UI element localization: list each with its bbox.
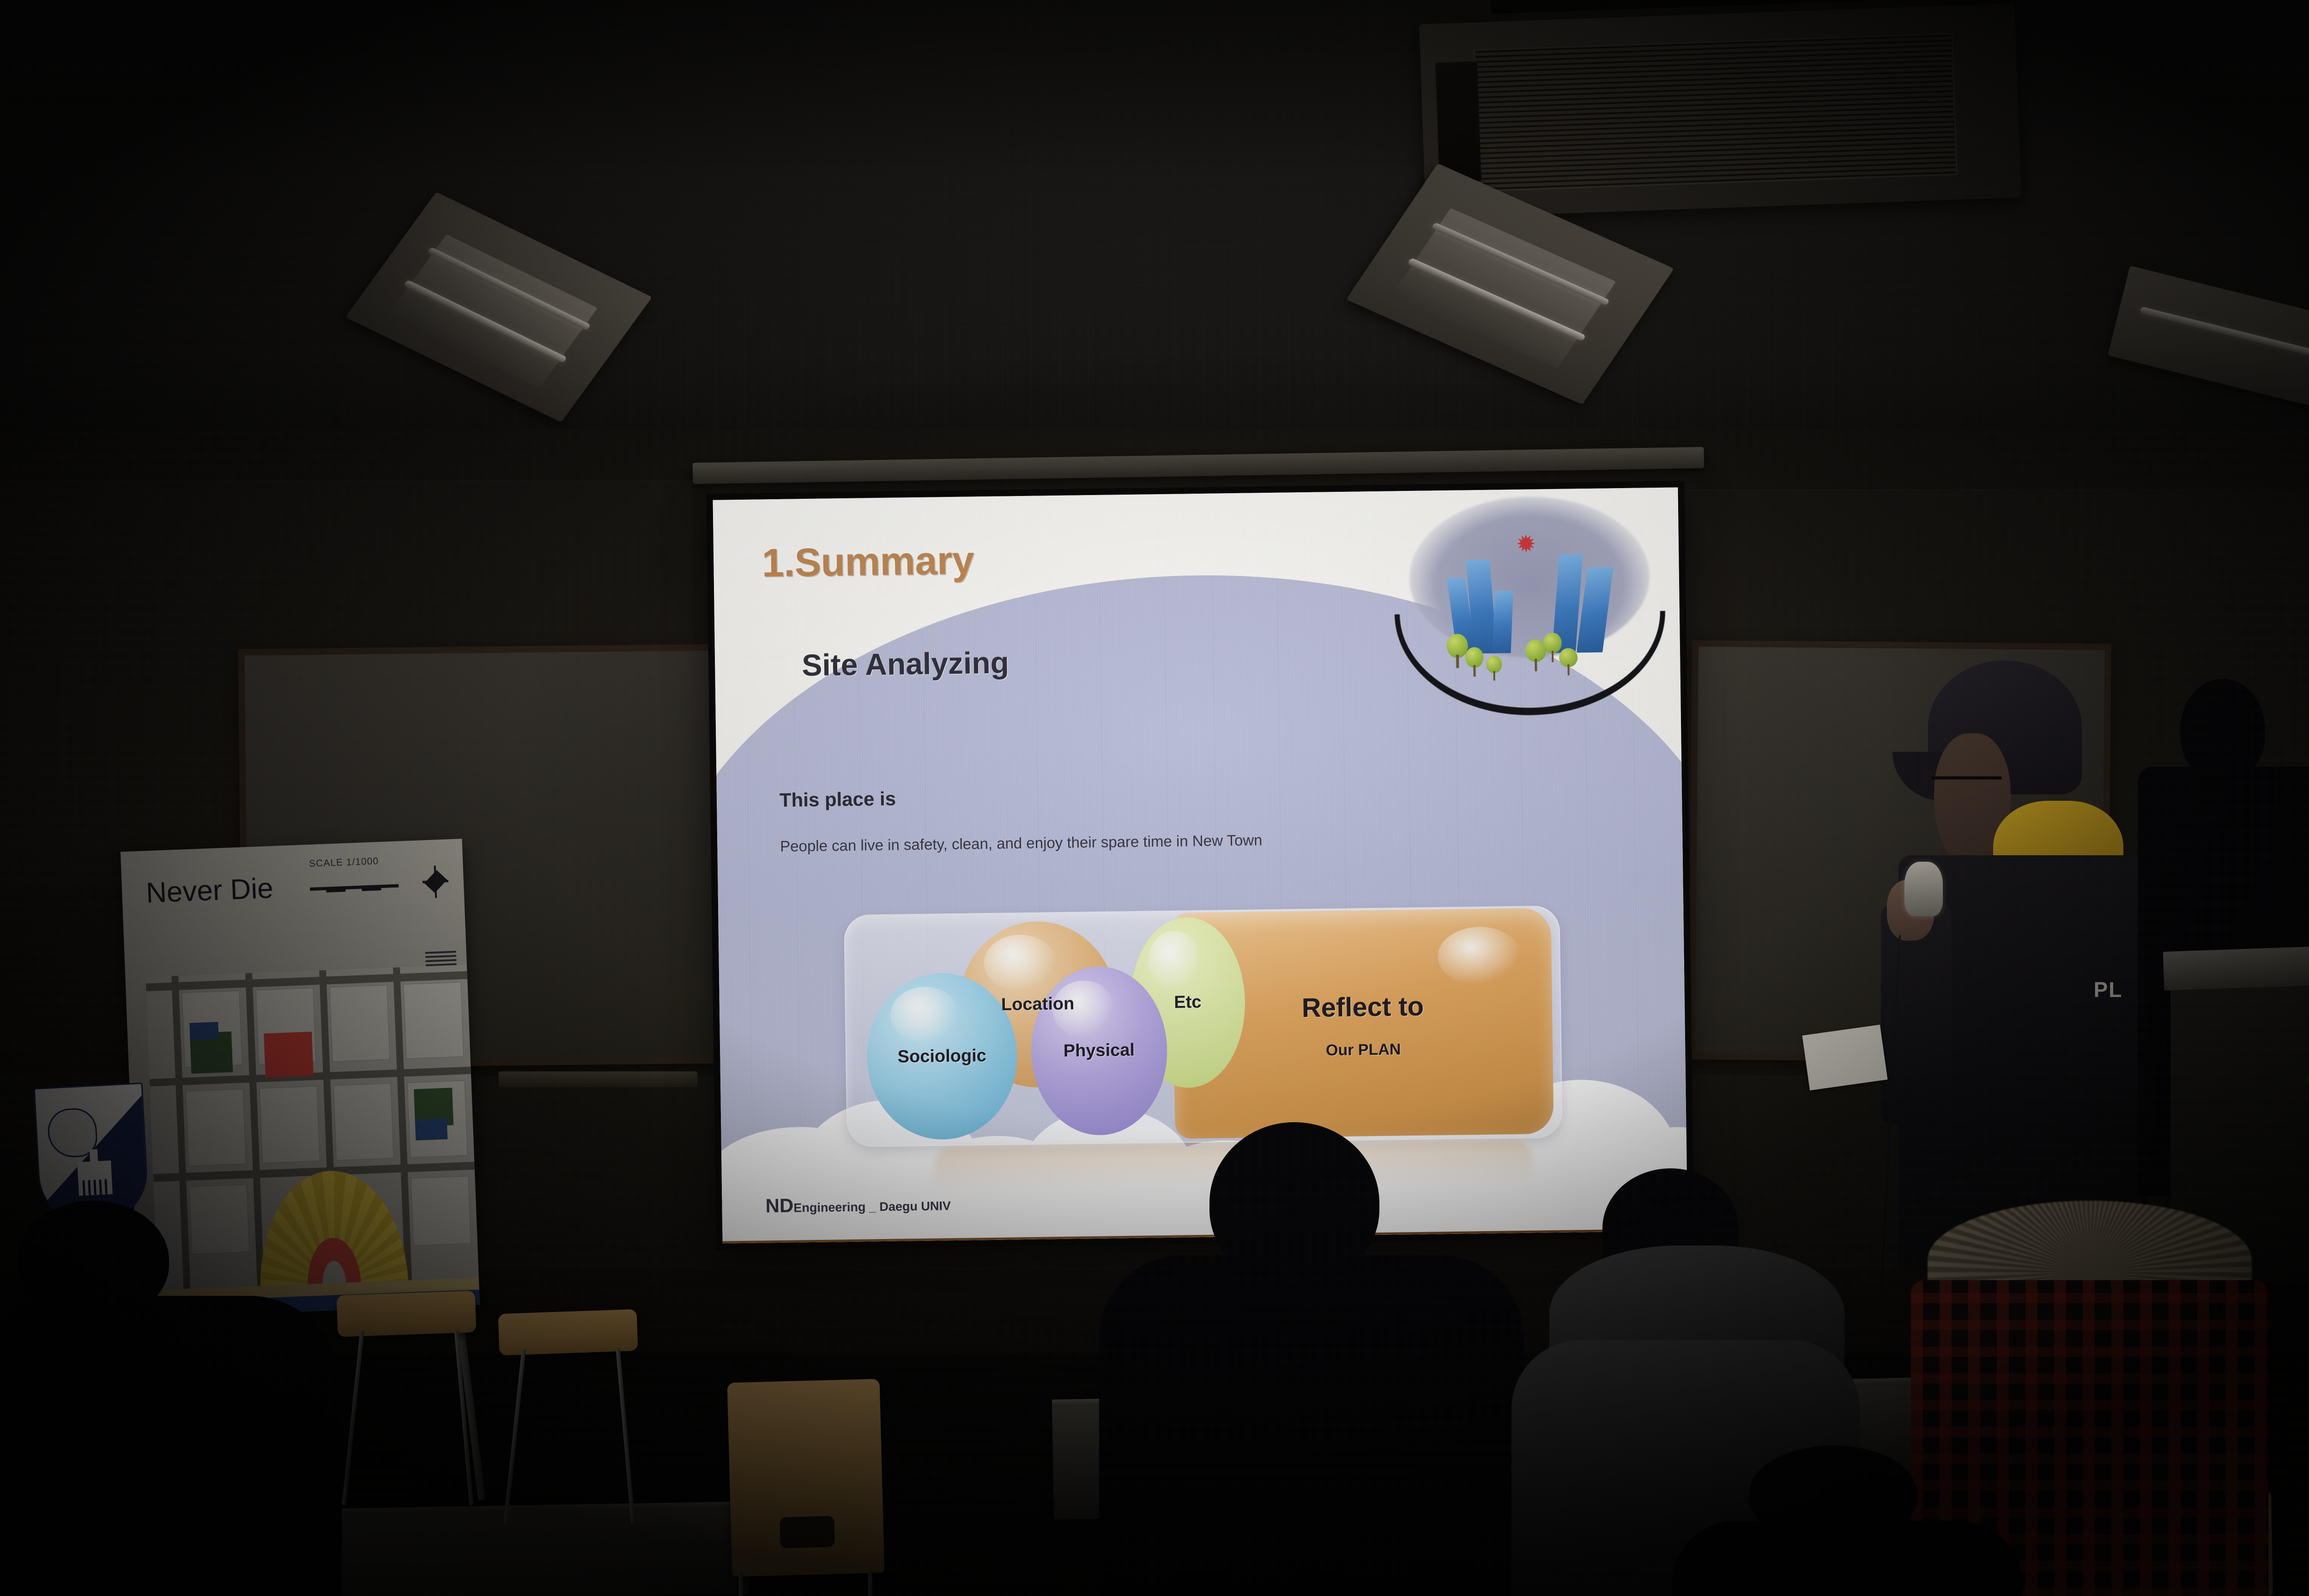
slide-title: 1.Summary [762,538,974,586]
north-arrow-icon [422,865,449,898]
bubble-physical-label: Physical [1064,1040,1135,1061]
audience-bottom-body [1672,1521,2023,1596]
desk-row-left [285,1501,749,1596]
slide-footer: NDEngineering _ Daegu UNIV [765,1192,951,1217]
audience-center-shoulders [1099,1255,1524,1596]
slide-subtitle: Site Analyzing [802,645,1009,683]
microphone[interactable] [1904,862,1943,917]
chair-leg-b [868,1570,872,1596]
university-crest [34,1082,150,1220]
bubble-sociologic: Sociologic [866,973,1018,1141]
classroom-scene: Never Die SCALE 1/1000 [0,0,2309,1596]
chair-leg-a [739,1570,743,1596]
slide-lead-text: This place is [780,788,896,811]
poster-title: Never Die [145,872,274,910]
outcome-blob: Reflect to Our PLAN [1172,908,1553,1139]
slide-corner-illustration: ✹ [1398,495,1662,721]
footer-affiliation: Engineering _ Daegu UNIV [793,1199,951,1215]
slide-bubble-diagram: Reflect to Our PLAN Location Etc Physica… [844,905,1561,1145]
brush-stroke-arc [1395,611,1667,717]
audience-left-body [0,1296,342,1596]
audience-left-front [0,1201,342,1596]
bubble-location-label: Location [1001,994,1075,1015]
presenter-jacket-logo: PL [2094,977,2123,1002]
presenter-notes-paper [1802,1025,1887,1090]
scale-bar [310,884,399,890]
outcome-title: Reflect to [1173,989,1552,1025]
lectern-top-surface [2163,943,2309,991]
audience-bottom-center [1672,1445,2023,1596]
poster-scale-label: SCALE 1/1000 [309,856,379,870]
audience-center [1099,1122,1524,1596]
stool-leg-3 [503,1349,526,1524]
bubble-sociologic-label: Sociologic [897,1046,986,1067]
ac-louver-left [1435,61,1481,182]
ceiling-ac-unit [1419,4,2021,218]
stool-leg-1 [342,1330,364,1505]
whiteboard-left-ledge [499,1071,697,1087]
presenter-glasses-icon [1931,776,2002,780]
chair-center-left [727,1379,885,1577]
footer-nd-logo: ND [765,1194,793,1216]
stool-leg-4 [616,1348,635,1523]
sun-icon: ✹ [1516,532,1536,557]
presenter: PL [1875,660,2170,1270]
ac-grille [1474,33,1958,192]
